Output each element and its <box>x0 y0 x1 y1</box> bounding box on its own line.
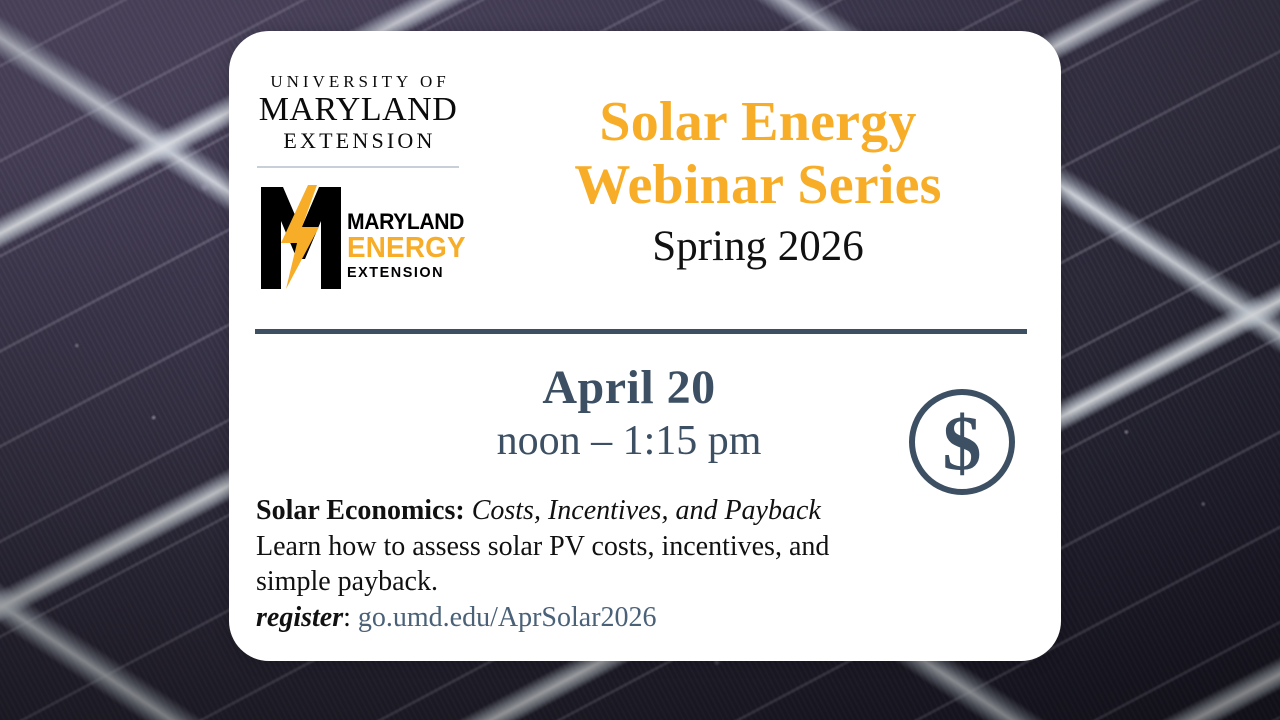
register-url[interactable]: go.umd.edu/AprSolar2026 <box>358 602 657 633</box>
card-header: UNIVERSITY OF MARYLAND EXTENSION MARYLAN… <box>229 31 1061 321</box>
umd-logo-rule <box>257 166 459 168</box>
title-block: Solar Energy Webinar Series Spring 2026 <box>473 91 1043 272</box>
session-date-block: April 20 noon – 1:15 pm <box>379 361 879 465</box>
session-details: Solar Economics: Costs, Incentives, and … <box>256 493 1036 635</box>
title-line-1: Solar Energy <box>473 91 1043 154</box>
dollar-sign-circle-icon: $ <box>905 385 1019 499</box>
session-register-line: register: go.umd.edu/AprSolar2026 <box>256 600 1036 636</box>
maryland-energy-extension-logo: MARYLAND ENERGY EXTENSION <box>255 185 461 291</box>
session-row: April 20 noon – 1:15 pm $ <box>229 361 1061 501</box>
register-space <box>351 602 358 633</box>
session-topic-line: Solar Economics: Costs, Incentives, and … <box>256 493 1036 529</box>
svg-text:$: $ <box>943 400 982 487</box>
topic-label: Solar Economics: <box>256 495 465 526</box>
session-description-line-1: Learn how to assess solar PV costs, ince… <box>256 529 1036 565</box>
energy-logo-line-energy: ENERGY <box>347 234 460 263</box>
energy-logo-line-extension: EXTENSION <box>347 265 460 280</box>
umd-extension-logo: UNIVERSITY OF MARYLAND EXTENSION <box>255 73 461 168</box>
section-divider <box>255 329 1027 334</box>
register-separator: : <box>343 602 351 633</box>
session-description-line-2: simple payback. <box>256 564 1036 600</box>
logo-column: UNIVERSITY OF MARYLAND EXTENSION MARYLAN… <box>255 73 461 291</box>
topic-subtitle: Costs, Incentives, and Payback <box>472 495 821 526</box>
topic-space <box>465 495 472 526</box>
energy-m-monogram-icon <box>259 185 343 289</box>
umd-logo-line-extension: EXTENSION <box>255 129 461 152</box>
register-label: register <box>256 602 343 633</box>
umd-logo-line-maryland: MARYLAND <box>255 92 461 128</box>
content-card: UNIVERSITY OF MARYLAND EXTENSION MARYLAN… <box>229 31 1061 661</box>
session-time: noon – 1:15 pm <box>379 417 879 465</box>
umd-logo-line-university-of: UNIVERSITY OF <box>255 73 461 90</box>
title-subtitle-season: Spring 2026 <box>473 222 1043 273</box>
energy-logo-line-maryland: MARYLAND <box>347 211 460 233</box>
flyer-stage: UNIVERSITY OF MARYLAND EXTENSION MARYLAN… <box>0 0 1280 720</box>
title-line-2: Webinar Series <box>473 154 1043 217</box>
session-date: April 20 <box>379 361 879 415</box>
energy-logo-wordmark: MARYLAND ENERGY EXTENSION <box>347 211 465 280</box>
